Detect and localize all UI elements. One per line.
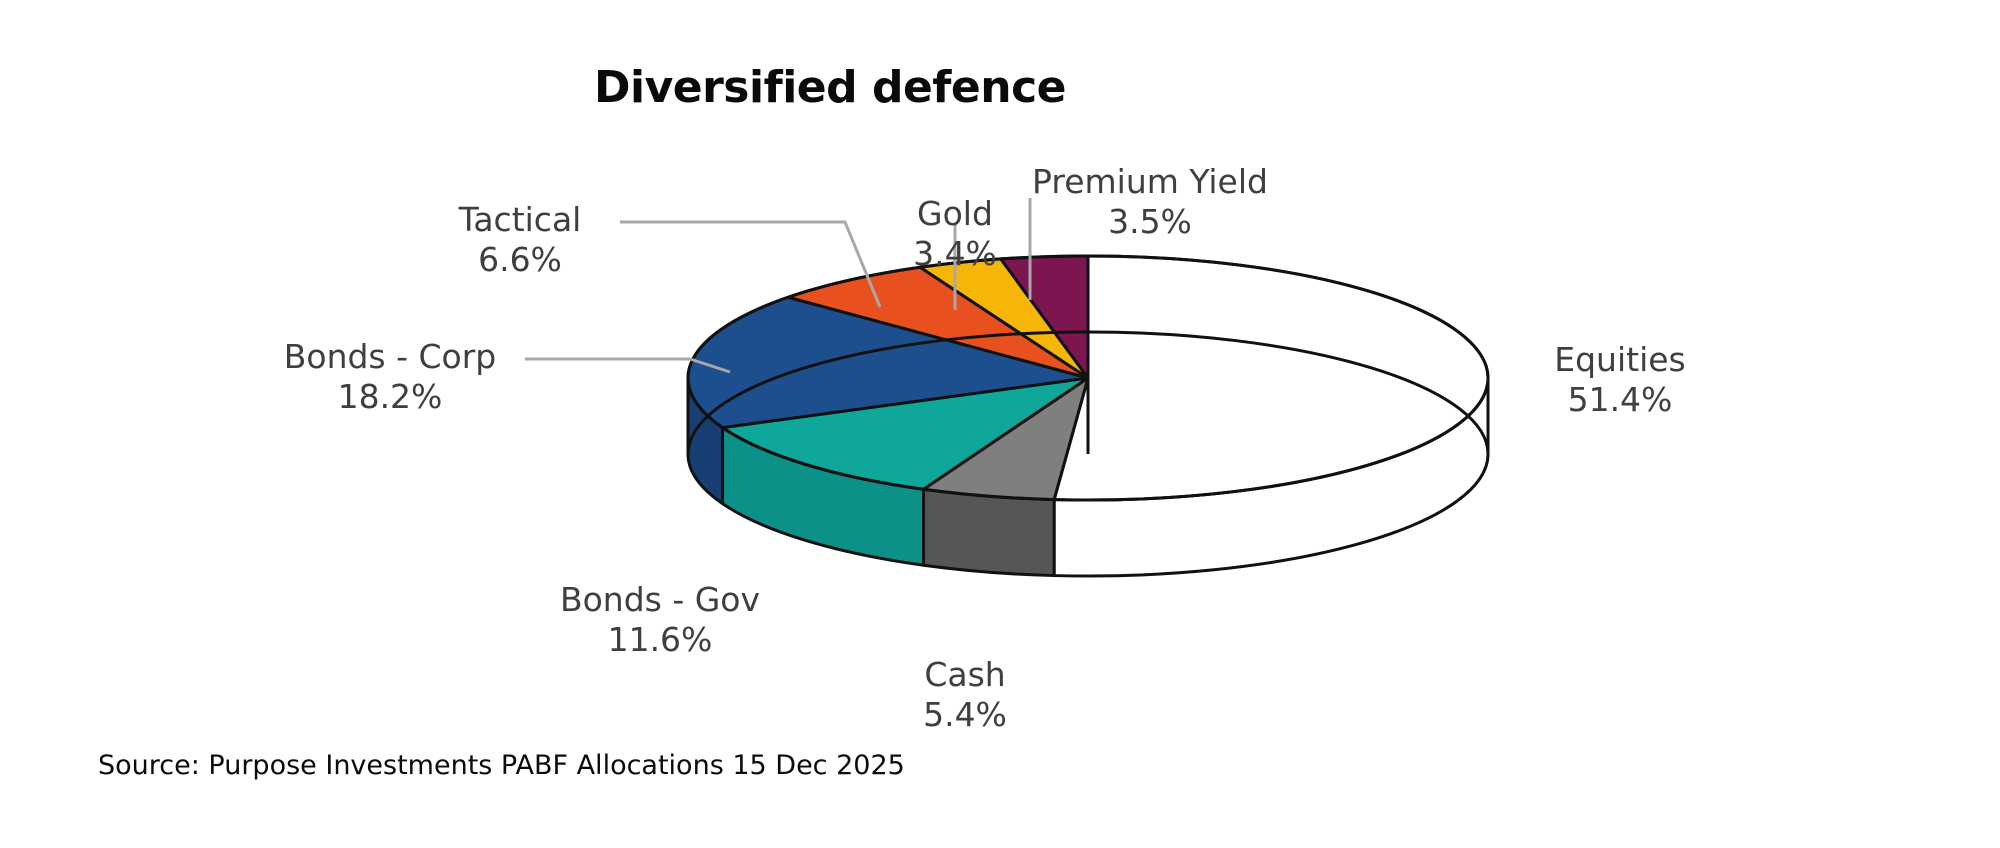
slice-label-premium-yield-name: Premium Yield: [1010, 162, 1290, 202]
pie-chart-figure: Diversified defence Equities 51.4% Cash …: [0, 0, 2000, 848]
slice-label-bonds-corp: Bonds - Corp 18.2%: [255, 337, 525, 416]
slice-label-bonds-gov-name: Bonds - Gov: [525, 580, 795, 620]
slice-label-bonds-gov: Bonds - Gov 11.6%: [525, 580, 795, 659]
slice-label-cash-value: 5.4%: [835, 695, 1095, 735]
slice-label-tactical: Tactical 6.6%: [415, 200, 625, 279]
slice-label-bonds-gov-value: 11.6%: [525, 620, 795, 660]
slice-label-tactical-value: 6.6%: [415, 240, 625, 280]
slice-label-equities-value: 51.4%: [1490, 380, 1750, 420]
pie-slices-group: [688, 256, 1488, 576]
slice-label-equities-name: Equities: [1490, 340, 1750, 380]
slice-label-cash-name: Cash: [835, 655, 1095, 695]
slice-label-premium-yield-value: 3.5%: [1010, 202, 1290, 242]
slice-label-equities: Equities 51.4%: [1490, 340, 1750, 419]
source-note: Source: Purpose Investments PABF Allocat…: [98, 750, 905, 781]
slice-label-bonds-corp-name: Bonds - Corp: [255, 337, 525, 377]
slice-label-tactical-name: Tactical: [415, 200, 625, 240]
slice-label-cash: Cash 5.4%: [835, 655, 1095, 734]
slice-label-premium-yield: Premium Yield 3.5%: [1010, 162, 1290, 241]
slice-label-bonds-corp-value: 18.2%: [255, 377, 525, 417]
pie-slice-side-cash: [924, 489, 1055, 575]
